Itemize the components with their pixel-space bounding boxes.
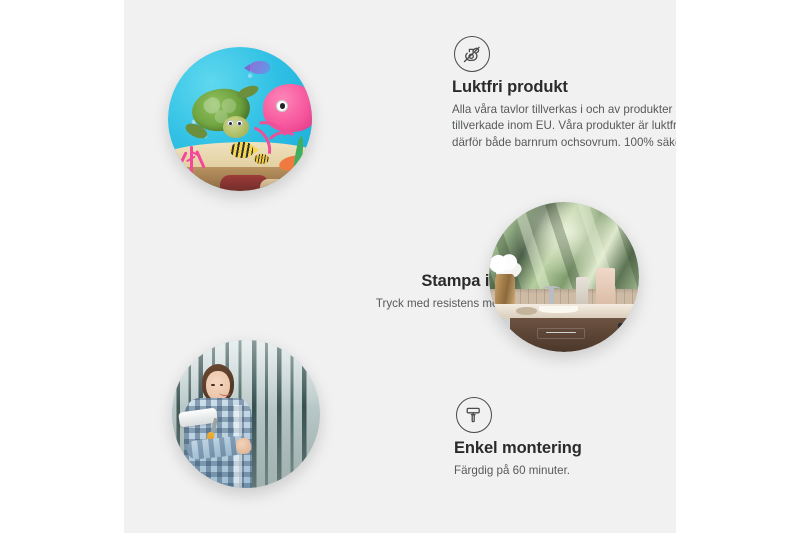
coral xyxy=(174,133,217,173)
feature-title: Luktfri produkt xyxy=(452,78,676,98)
content-panel: Luktfri produkt Alla våra tavlor tillver… xyxy=(124,0,676,533)
photo-inner xyxy=(168,47,312,191)
sink-basin xyxy=(539,306,578,314)
paint-roller-icon xyxy=(456,397,492,433)
feature-block-luktfri-produkt: Luktfri produkt Alla våra tavlor tillver… xyxy=(452,36,676,151)
small-fish xyxy=(254,154,268,164)
soap-dish xyxy=(516,307,537,315)
icon-wrap xyxy=(454,397,676,433)
bathroom-tropical-wallpaper-photo xyxy=(489,202,639,352)
woman-smile xyxy=(219,389,231,396)
feature-body: Färgdig på 60 minuter. xyxy=(454,463,676,479)
woman-hand xyxy=(235,437,251,455)
wood-vanity-cabinet xyxy=(510,318,639,353)
underwater-sea-creatures-photo xyxy=(168,47,312,191)
purple-fish xyxy=(249,61,271,74)
reef-rock-secondary xyxy=(260,179,292,191)
angelfish xyxy=(230,142,253,158)
octopus-eye xyxy=(276,100,288,112)
painter-forest-photo xyxy=(172,340,320,488)
vanity-drawer xyxy=(537,328,585,339)
feature-body: Alla våra tavlor tillverkas i och av pro… xyxy=(452,102,676,151)
vanity-handle xyxy=(618,323,623,343)
photo-inner xyxy=(489,202,639,352)
woman-face xyxy=(206,371,230,401)
no-odour-perfume-bottle-icon xyxy=(454,36,490,72)
turtle-eye xyxy=(236,120,243,126)
icon-wrap xyxy=(452,36,676,72)
soap-dispenser xyxy=(576,277,588,307)
feature-block-enkel-montering: Enkel montering Färgdig på 60 minuter. xyxy=(454,397,676,479)
feature-title: Enkel montering xyxy=(454,439,676,459)
page-root: Luktfri produkt Alla våra tavlor tillver… xyxy=(0,0,800,533)
photo-inner xyxy=(172,340,320,488)
turtle-eye xyxy=(227,120,234,126)
